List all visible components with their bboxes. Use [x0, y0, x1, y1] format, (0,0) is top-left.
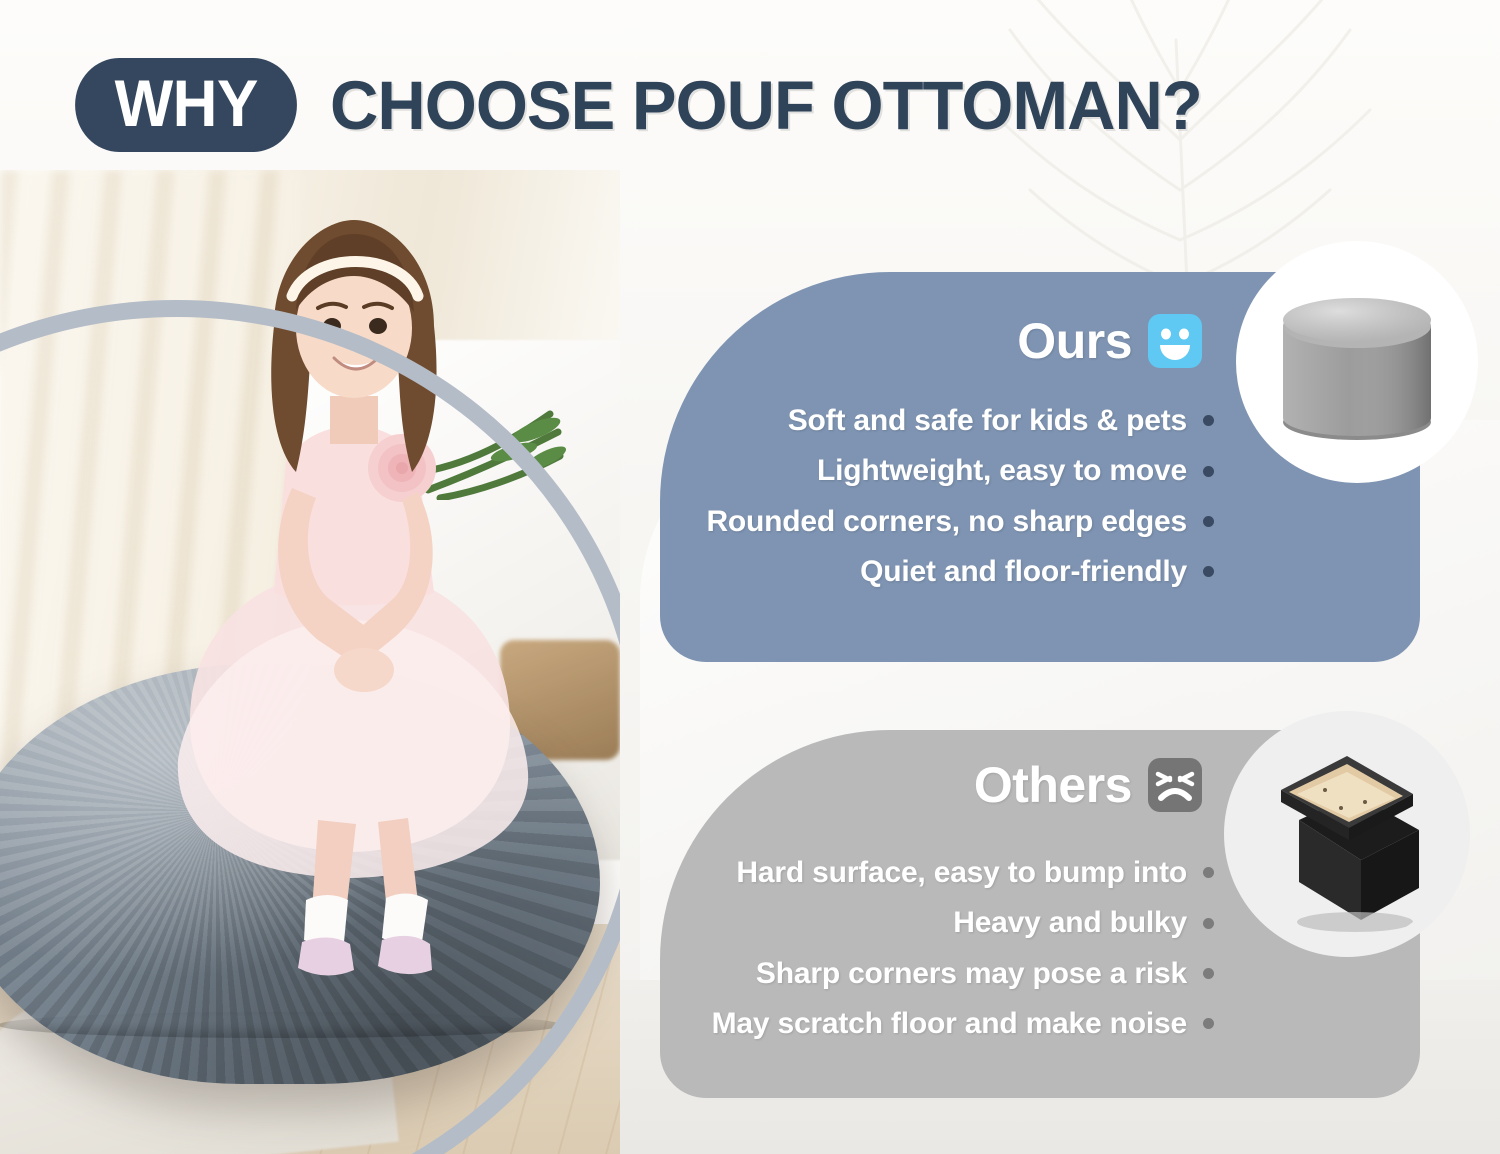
list-item: Rounded corners, no sharp edges: [706, 501, 1214, 542]
list-item: Lightweight, easy to move: [817, 450, 1214, 491]
round-pouf-ottoman-icon: [1249, 254, 1465, 470]
panel-header-ours: Ours: [1017, 314, 1202, 368]
list-item: May scratch floor and make noise: [712, 1003, 1214, 1044]
bullet-text: Soft and safe for kids & pets: [788, 400, 1187, 441]
bullet-text: Hard surface, easy to bump into: [736, 852, 1187, 893]
bullet-dot-icon: [1203, 466, 1214, 477]
bullet-text: Quiet and floor-friendly: [860, 551, 1187, 592]
list-item: Heavy and bulky: [953, 902, 1214, 943]
panel-title-ours: Ours: [1017, 316, 1132, 366]
photo-scene: [0, 170, 620, 1154]
pouf-seam: [0, 1012, 562, 1038]
infographic-canvas: WHY CHOOSE POUF OTTOMAN? Ours Soft and s…: [0, 0, 1500, 1154]
bullet-list-ours: Soft and safe for kids & pets Lightweigh…: [706, 400, 1214, 593]
sad-face-icon: [1148, 758, 1202, 812]
why-badge: WHY: [75, 58, 297, 152]
page-title: CHOOSE POUF OTTOMAN?: [330, 71, 1202, 140]
child-model-icon: [150, 200, 550, 1000]
list-item: Quiet and floor-friendly: [860, 551, 1214, 592]
bullet-dot-icon: [1203, 918, 1214, 929]
list-item: Sharp corners may pose a risk: [756, 953, 1214, 994]
bullet-text: Rounded corners, no sharp edges: [706, 501, 1187, 542]
bullet-dot-icon: [1203, 566, 1214, 577]
bullet-text: May scratch floor and make noise: [712, 1003, 1187, 1044]
product-lifestyle-photo: [0, 170, 620, 1154]
list-item: Soft and safe for kids & pets: [788, 400, 1214, 441]
page-header: WHY CHOOSE POUF OTTOMAN?: [68, 58, 1229, 152]
bullet-dot-icon: [1203, 867, 1214, 878]
panel-title-others: Others: [974, 760, 1132, 810]
bullet-dot-icon: [1203, 968, 1214, 979]
happy-face-icon: [1148, 314, 1202, 368]
bullet-text: Lightweight, easy to move: [817, 450, 1187, 491]
bullet-dot-icon: [1203, 1018, 1214, 1029]
bullet-text: Sharp corners may pose a risk: [756, 953, 1187, 994]
bullet-dot-icon: [1203, 516, 1214, 527]
list-item: Hard surface, easy to bump into: [736, 852, 1214, 893]
panel-header-others: Others: [974, 758, 1202, 812]
square-storage-ottoman-icon: [1237, 724, 1457, 944]
bullet-text: Heavy and bulky: [953, 902, 1187, 943]
bullet-list-others: Hard surface, easy to bump into Heavy an…: [712, 852, 1214, 1045]
bullet-dot-icon: [1203, 415, 1214, 426]
